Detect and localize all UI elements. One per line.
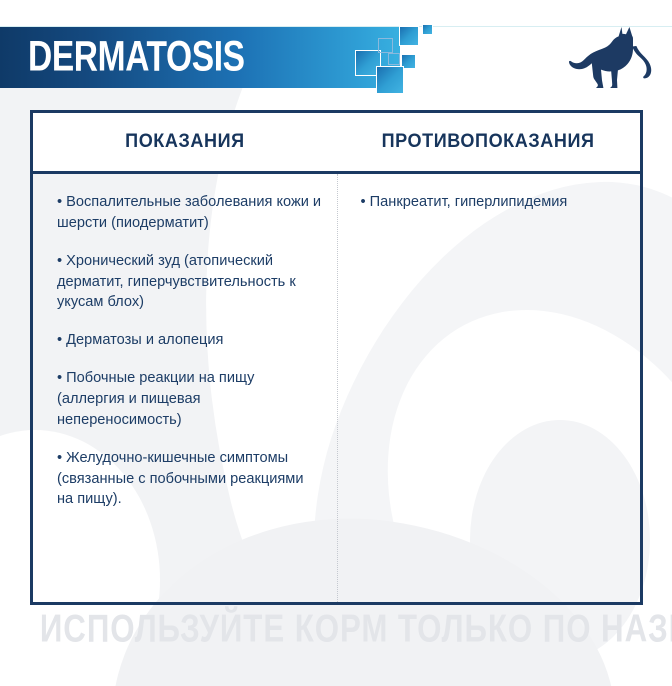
contraindications-column: • Панкреатит, гиперлипидемия bbox=[337, 174, 641, 602]
table-header-indications: ПОКАЗАНИЯ bbox=[33, 113, 337, 171]
list-item: • Желудочно-кишечные симптомы (связанные… bbox=[57, 448, 323, 511]
table-header-row: ПОКАЗАНИЯ ПРОТИВОПОКАЗАНИЯ bbox=[33, 113, 640, 174]
footer-note-text: ИСПОЛЬЗУЙТЕ КОРМ ТОЛЬКО ПО НАЗНАЧЕНИЮ ВР… bbox=[40, 609, 672, 650]
indications-column: • Воспалительные заболевания кожи и шерс… bbox=[33, 174, 337, 602]
table-header-contraindications-label: ПРОТИВОПОКАЗАНИЯ bbox=[382, 131, 595, 153]
list-item: • Побочные реакции на пищу (аллергия и п… bbox=[57, 368, 323, 431]
list-item: • Панкреатит, гиперлипидемия bbox=[361, 192, 627, 213]
table-header-indications-label: ПОКАЗАНИЯ bbox=[125, 131, 245, 153]
table-header-contraindications: ПРОТИВОПОКАЗАНИЯ bbox=[337, 113, 641, 171]
cat-silhouette-icon bbox=[560, 24, 652, 90]
list-item: • Хронический зуд (атопический дерматит,… bbox=[57, 251, 323, 314]
table-body: • Воспалительные заболевания кожи и шерс… bbox=[33, 174, 640, 602]
header-banner: DERMATOSIS bbox=[0, 27, 400, 88]
footer-note: ИСПОЛЬЗУЙТЕ КОРМ ТОЛЬКО ПО НАЗНАЧЕНИЮ ВР… bbox=[0, 612, 672, 648]
blue-squares-decoration-icon bbox=[355, 24, 450, 96]
list-item: • Воспалительные заболевания кожи и шерс… bbox=[57, 192, 323, 234]
page-title: DERMATOSIS bbox=[28, 35, 245, 78]
indications-table: ПОКАЗАНИЯ ПРОТИВОПОКАЗАНИЯ • Воспалитель… bbox=[30, 110, 643, 605]
poster-page: DERMATOSIS ПОКАЗАНИЯ ПРОТИВОПОКАЗАНИЯ bbox=[0, 0, 672, 686]
column-divider bbox=[337, 174, 338, 602]
list-item: • Дерматозы и алопеция bbox=[57, 330, 323, 351]
